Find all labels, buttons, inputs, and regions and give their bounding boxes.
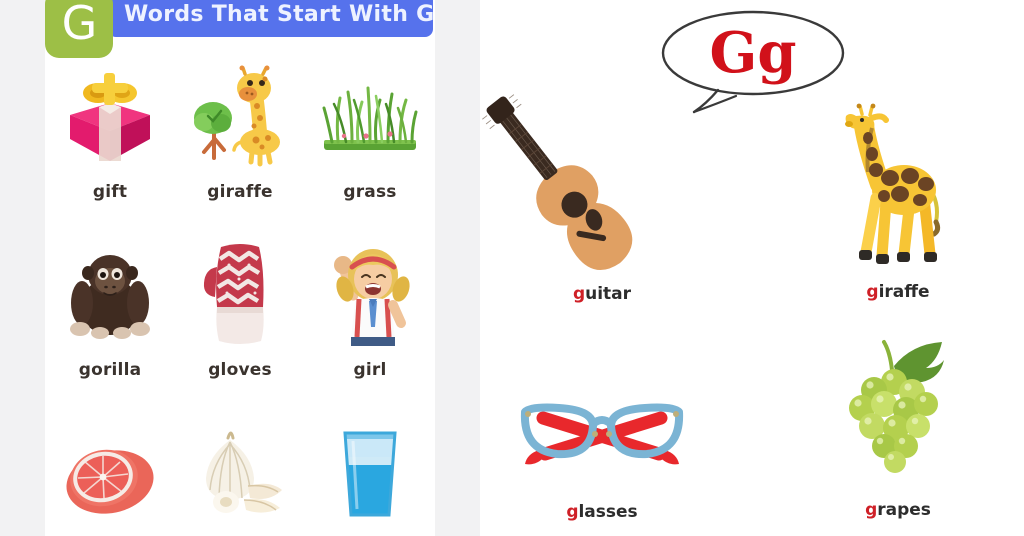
- word-cell-glass[interactable]: glass: [305, 414, 435, 536]
- word-label: gorilla: [79, 360, 142, 380]
- header-title-bar: Words That Start With G: [108, 0, 433, 37]
- giraffe-icon: [798, 100, 998, 276]
- word-label: giraffe: [207, 182, 273, 202]
- letter-badge-glyph: G: [62, 0, 97, 46]
- picture-card-guitar[interactable]: guitar: [502, 118, 702, 304]
- gorilla-icon: [55, 236, 165, 354]
- giraffe-tree-icon: [185, 58, 295, 176]
- word-cell-giraffe[interactable]: giraffe: [175, 58, 305, 236]
- word-cell-garlic[interactable]: garlic: [175, 414, 305, 536]
- speech-bubble: Gg: [658, 8, 848, 102]
- word-cell-gorilla[interactable]: gorilla: [45, 236, 175, 414]
- picture-card-giraffe[interactable]: giraffe: [798, 100, 998, 302]
- initial-letter: g: [573, 284, 585, 304]
- drinking-glass-icon: [315, 414, 425, 532]
- left-word-list-card: G Words That Start With G: [45, 0, 435, 536]
- letter-pair-Gg: Gg: [658, 8, 848, 102]
- grass-icon: [315, 58, 425, 176]
- word-cell-grass[interactable]: grass: [305, 58, 435, 236]
- word-label: gloves: [208, 360, 272, 380]
- label-rest: uitar: [585, 284, 631, 304]
- left-card-header: G Words That Start With G: [45, 0, 435, 44]
- label-rest: iraffe: [879, 282, 930, 302]
- word-label: gift: [93, 182, 127, 202]
- acoustic-guitar-icon: [502, 118, 702, 276]
- label-rest: rapes: [877, 500, 931, 520]
- grapefruit-icon: [55, 414, 165, 532]
- garlic-icon: [185, 414, 295, 532]
- picture-label: guitar: [573, 284, 631, 304]
- gift-icon: [55, 58, 165, 176]
- word-cell-girl[interactable]: girl: [305, 236, 435, 414]
- word-cell-gloves[interactable]: gloves: [175, 236, 305, 414]
- picture-card-glasses[interactable]: glasses: [502, 372, 702, 522]
- page-title: Words That Start With G: [108, 2, 434, 27]
- grapes-icon: [798, 338, 998, 478]
- initial-letter: g: [866, 282, 878, 302]
- worksheet-page: G Words That Start With G: [0, 0, 1024, 536]
- word-cell-gift[interactable]: gift: [45, 58, 175, 236]
- picture-card-grapes[interactable]: grapes: [798, 338, 998, 520]
- label-rest: lasses: [578, 502, 637, 522]
- letter-badge: G: [45, 0, 113, 58]
- eyeglasses-icon: [502, 372, 702, 482]
- word-cell-grapefruit[interactable]: grapefruit: [45, 414, 175, 536]
- picture-label: glasses: [566, 502, 637, 522]
- right-letter-card: Gg: [480, 0, 1024, 536]
- word-label: girl: [353, 360, 386, 380]
- mitten-icon: [185, 236, 295, 354]
- word-label: grass: [343, 182, 396, 202]
- initial-letter: g: [865, 500, 877, 520]
- picture-label: giraffe: [866, 282, 929, 302]
- word-grid: gift: [45, 58, 435, 536]
- picture-label: grapes: [865, 500, 931, 520]
- initial-letter: g: [566, 502, 578, 522]
- girl-icon: [315, 236, 425, 354]
